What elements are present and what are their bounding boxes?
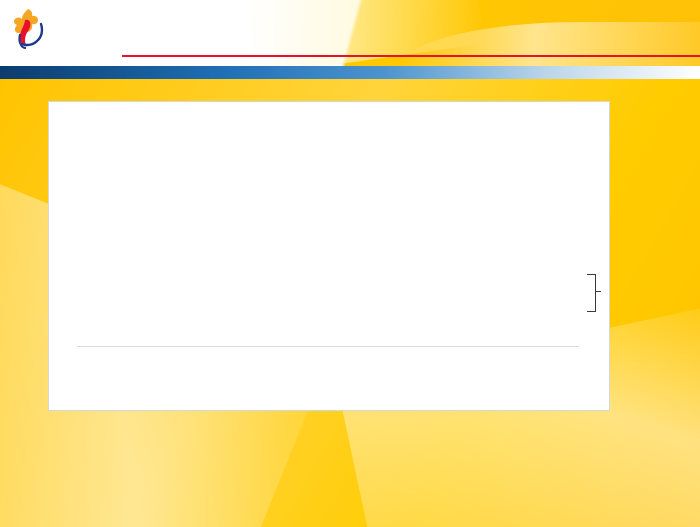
range-bracket-tick-icon bbox=[596, 291, 601, 292]
chart-plot-area bbox=[77, 157, 579, 347]
slide-body bbox=[0, 79, 700, 527]
egat-logo bbox=[6, 6, 186, 60]
range-bracket-icon bbox=[587, 274, 596, 312]
thailand-map-logo-icon bbox=[8, 6, 52, 50]
chart-panel bbox=[48, 101, 610, 411]
header-red-divider bbox=[122, 55, 700, 57]
bar-series-container bbox=[77, 157, 579, 347]
header-blue-gradient-bar bbox=[0, 66, 700, 79]
